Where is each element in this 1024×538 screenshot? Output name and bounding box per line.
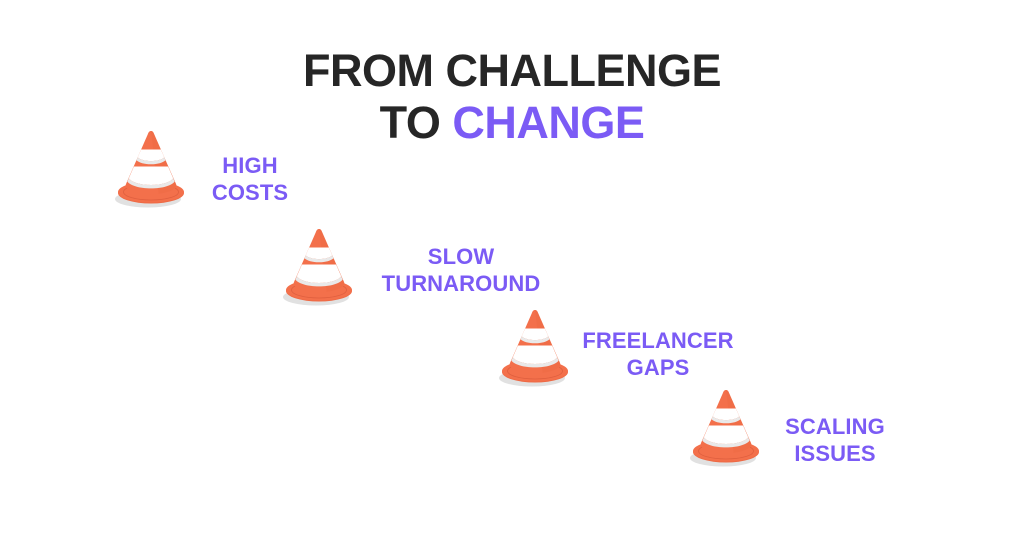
cone-label-scaling-issues: SCALINGISSUES <box>770 414 900 468</box>
cone-label-line-2: ISSUES <box>770 441 900 468</box>
cone-label-line-1: SLOW <box>366 244 556 271</box>
cone-label-line-2: GAPS <box>578 355 738 382</box>
cone-label-slow-turnaround: SLOWTURNAROUND <box>366 244 556 298</box>
traffic-cone-icon <box>276 224 360 308</box>
traffic-cone-icon <box>108 126 192 210</box>
title-line-1: FROM CHALLENGE <box>0 48 1024 94</box>
infographic-canvas: FROM CHALLENGE TO CHANGE HIGHCOSTSSLOWTU… <box>0 0 1024 538</box>
traffic-cone-icon <box>683 385 767 469</box>
title-line-2-prefix: TO <box>380 97 453 148</box>
cone-label-line-1: FREELANCER <box>578 328 738 355</box>
cone-label-line-2: COSTS <box>196 180 304 207</box>
cone-label-line-2: TURNAROUND <box>366 271 556 298</box>
cone-label-high-costs: HIGHCOSTS <box>196 153 304 207</box>
cone-label-line-1: HIGH <box>196 153 304 180</box>
title-line-2-accent: CHANGE <box>452 97 644 148</box>
traffic-cone-icon <box>492 305 576 389</box>
cone-label-line-1: SCALING <box>770 414 900 441</box>
cone-label-freelancer-gaps: FREELANCERGAPS <box>578 328 738 382</box>
